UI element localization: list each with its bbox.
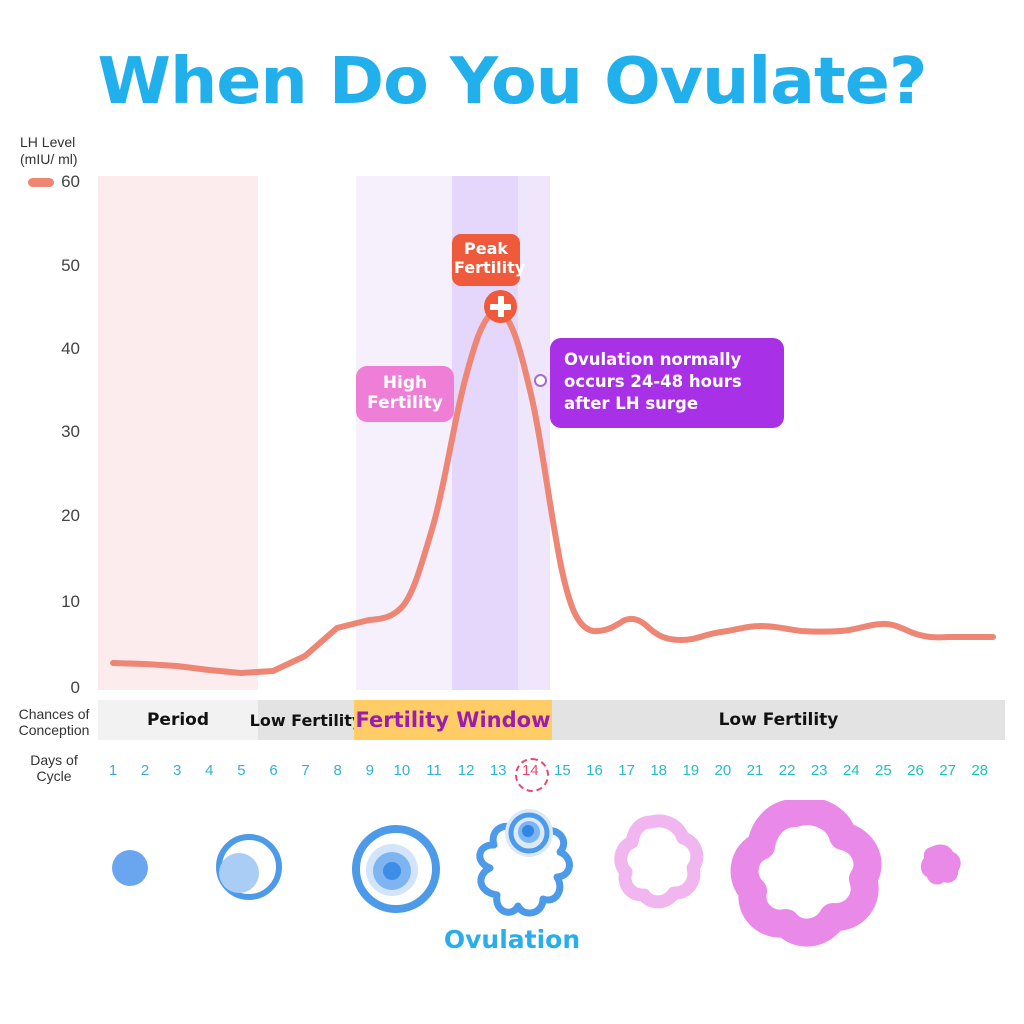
day-label-18[interactable]: 18 [644, 762, 674, 779]
day-label-1[interactable]: 1 [98, 762, 128, 779]
peak-fertility-badge-line1: Peak [454, 240, 518, 259]
ovulation-note-badge: Ovulation normally occurs 24-48 hours af… [550, 338, 784, 428]
day-label-12[interactable]: 12 [451, 762, 481, 779]
y-tick-0: 0 [24, 678, 80, 698]
follicle-primary-icon [219, 837, 279, 897]
y-axis-title: LH Level (mIU/ ml) [20, 134, 110, 168]
follicle-ruptured-ovulation-icon [480, 809, 570, 913]
ovulation-note-connector-icon [534, 374, 547, 387]
day-label-2[interactable]: 2 [130, 762, 160, 779]
y-axis-title-line2: (mIU/ ml) [20, 151, 110, 168]
y-tick-10: 10 [24, 592, 80, 612]
lh-level-line-series [98, 176, 1008, 690]
peak-fertility-badge: Peak Fertility [452, 234, 520, 286]
corpus-luteum-mature-icon [745, 811, 868, 932]
high-fertility-badge-line1: High [358, 373, 452, 393]
day-label-27[interactable]: 27 [933, 762, 963, 779]
y-tick-40: 40 [24, 339, 80, 359]
day-label-7[interactable]: 7 [291, 762, 321, 779]
corpus-luteum-early-icon [621, 821, 697, 902]
day-label-24[interactable]: 24 [836, 762, 866, 779]
day-label-23[interactable]: 23 [804, 762, 834, 779]
days-of-cycle-axis: 1234567891011121314151617181920212223242… [0, 762, 1024, 792]
ovulation-note-line3: after LH surge [564, 393, 772, 415]
day-label-11[interactable]: 11 [419, 762, 449, 779]
day-label-14[interactable]: 14 [515, 762, 545, 779]
chances-of-conception-bar: Period Low Fertility Fertility Window Lo… [0, 700, 1024, 740]
day-label-3[interactable]: 3 [162, 762, 192, 779]
day-label-15[interactable]: 15 [547, 762, 577, 779]
day-label-21[interactable]: 21 [740, 762, 770, 779]
day-label-5[interactable]: 5 [226, 762, 256, 779]
conception-segment-low-fertility-1: Low Fertility [258, 700, 354, 740]
lh-chart-plot-area [98, 176, 1008, 690]
day-label-9[interactable]: 9 [355, 762, 385, 779]
y-tick-30: 30 [24, 422, 80, 442]
peak-plus-marker-icon [484, 290, 517, 323]
conception-segment-low-fertility-2: Low Fertility [552, 700, 1005, 740]
day-label-17[interactable]: 17 [612, 762, 642, 779]
ovulation-note-line1: Ovulation normally [564, 349, 772, 371]
conception-segment-period: Period [98, 700, 258, 740]
day-label-10[interactable]: 10 [387, 762, 417, 779]
day-label-16[interactable]: 16 [580, 762, 610, 779]
day-label-19[interactable]: 19 [676, 762, 706, 779]
day-label-25[interactable]: 25 [868, 762, 898, 779]
day-label-20[interactable]: 20 [708, 762, 738, 779]
follicle-primordial-icon [112, 850, 148, 886]
y-axis-title-line1: LH Level [20, 134, 110, 151]
day-label-13[interactable]: 13 [483, 762, 513, 779]
ovulation-caption: Ovulation [0, 925, 1024, 954]
day-label-4[interactable]: 4 [194, 762, 224, 779]
follicle-graafian-icon [356, 829, 436, 909]
corpus-albicans-icon [921, 845, 961, 885]
high-fertility-badge: High Fertility [356, 366, 454, 422]
y-tick-20: 20 [24, 506, 80, 526]
peak-fertility-badge-line2: Fertility [454, 259, 518, 278]
ovulation-note-line2: occurs 24-48 hours [564, 371, 772, 393]
y-tick-60: 60 [24, 172, 80, 192]
day-label-26[interactable]: 26 [901, 762, 931, 779]
page-title: When Do You Ovulate? [0, 50, 1024, 114]
y-tick-50: 50 [24, 256, 80, 276]
day-label-6[interactable]: 6 [259, 762, 289, 779]
conception-segment-fertility-window: Fertility Window [354, 700, 552, 740]
day-label-22[interactable]: 22 [772, 762, 802, 779]
day-label-28[interactable]: 28 [965, 762, 995, 779]
high-fertility-badge-line2: Fertility [358, 393, 452, 413]
day-label-8[interactable]: 8 [323, 762, 353, 779]
